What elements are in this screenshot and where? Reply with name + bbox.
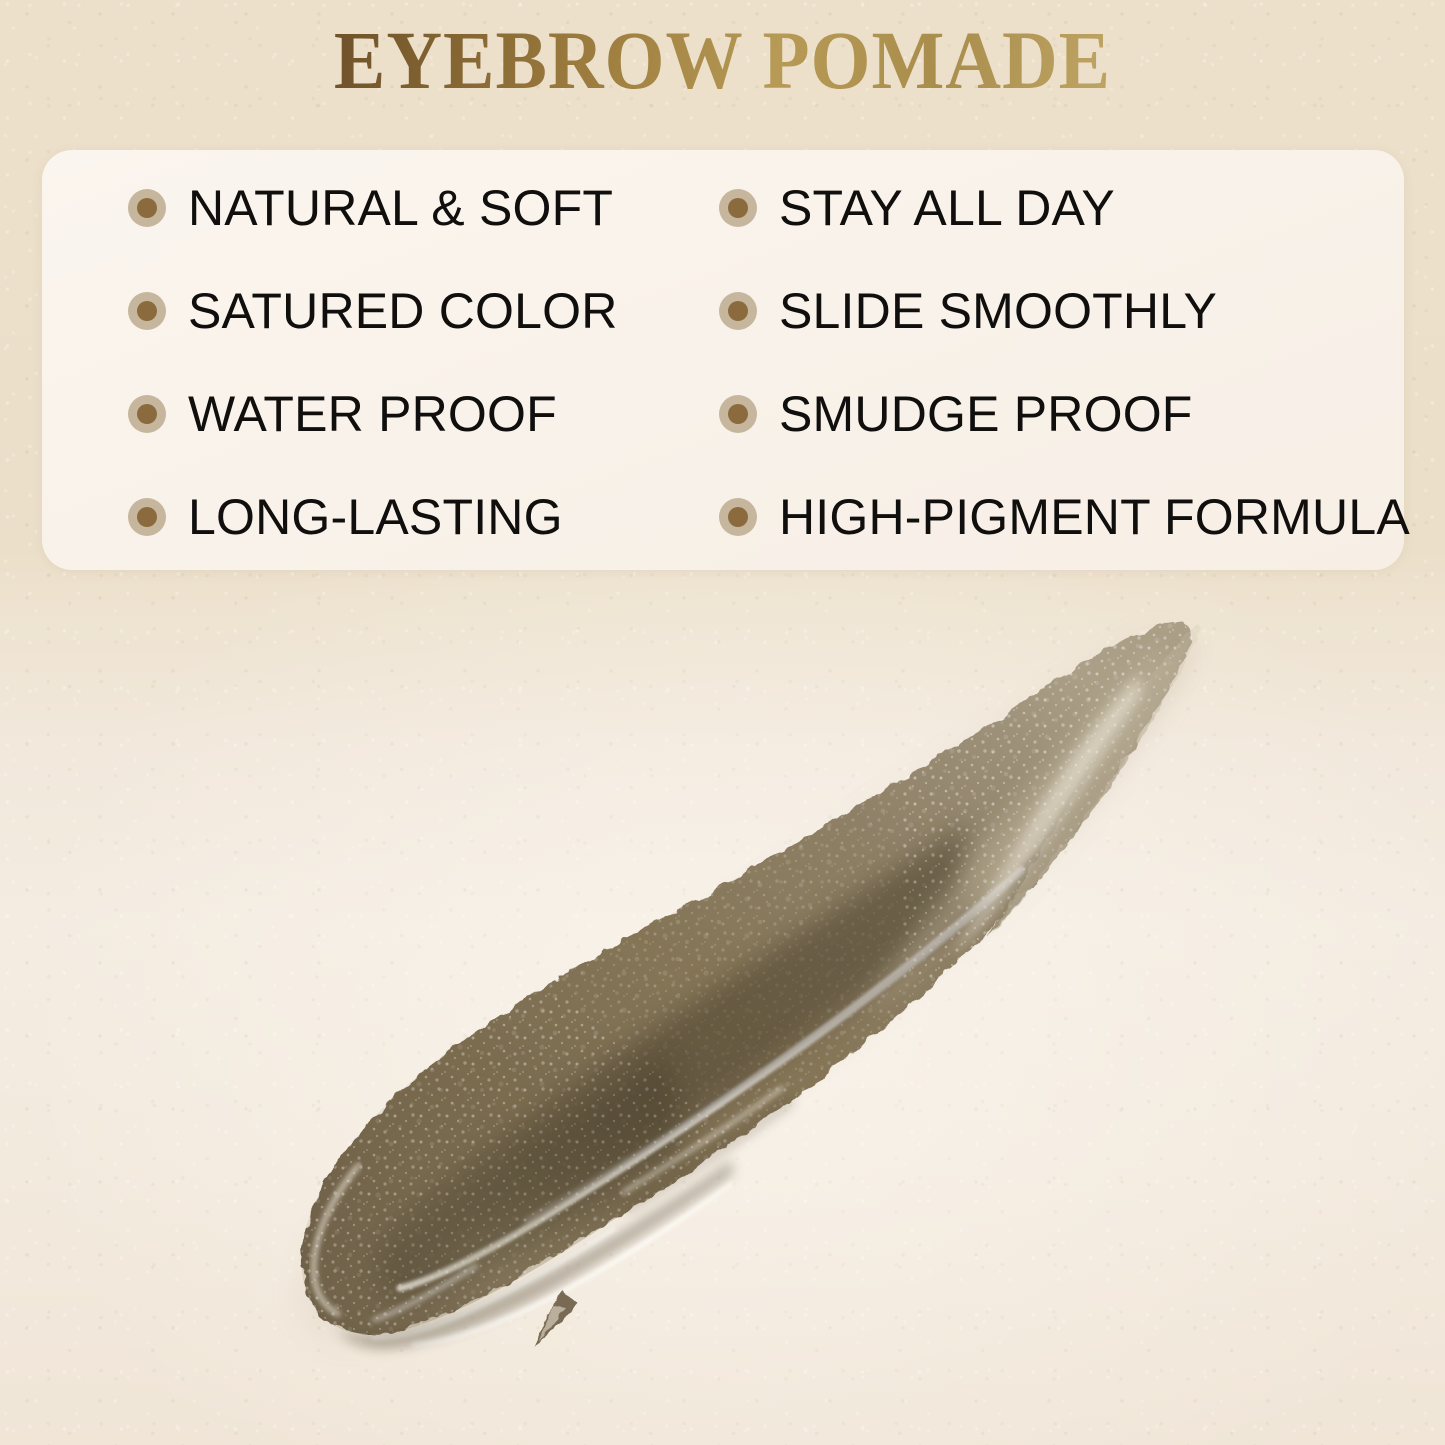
feature-label: LONG-LASTING (188, 492, 563, 542)
bullet-dot-icon (719, 189, 757, 227)
bullet-dot-icon (128, 498, 166, 536)
eyebrow-pomade-smear (262, 618, 1242, 1418)
feature-label: NATURAL & SOFT (188, 183, 613, 233)
product-swatch-area (0, 580, 1445, 1445)
feature-label: SATURED COLOR (188, 286, 618, 336)
page-title: EYEBROW POMADE (51, 16, 1395, 106)
bullet-dot-icon (719, 395, 757, 433)
feature-item-long-lasting: LONG-LASTING (42, 465, 705, 568)
feature-card: NATURAL & SOFT STAY ALL DAY SATURED COLO… (42, 150, 1404, 570)
bullet-dot-icon (128, 395, 166, 433)
swatch-bottom-spike (534, 1290, 578, 1348)
bullet-dot-icon (719, 498, 757, 536)
feature-label: HIGH-PIGMENT FORMULA (779, 492, 1410, 542)
feature-list: NATURAL & SOFT STAY ALL DAY SATURED COLO… (42, 150, 1404, 570)
feature-item-slide-smoothly: SLIDE SMOOTHLY (705, 259, 1404, 362)
feature-label: SMUDGE PROOF (779, 389, 1193, 439)
feature-item-high-pigment-formula: HIGH-PIGMENT FORMULA (705, 465, 1404, 568)
feature-label: WATER PROOF (188, 389, 557, 439)
product-infographic: EYEBROW POMADE NATURAL & SOFT STAY ALL D… (0, 0, 1445, 1445)
feature-item-satured-color: SATURED COLOR (42, 259, 705, 362)
feature-item-natural-soft: NATURAL & SOFT (42, 156, 705, 259)
bullet-dot-icon (128, 189, 166, 227)
feature-item-water-proof: WATER PROOF (42, 362, 705, 465)
feature-label: SLIDE SMOOTHLY (779, 286, 1217, 336)
feature-item-stay-all-day: STAY ALL DAY (705, 156, 1404, 259)
bullet-dot-icon (719, 292, 757, 330)
feature-label: STAY ALL DAY (779, 183, 1115, 233)
feature-item-smudge-proof: SMUDGE PROOF (705, 362, 1404, 465)
bullet-dot-icon (128, 292, 166, 330)
